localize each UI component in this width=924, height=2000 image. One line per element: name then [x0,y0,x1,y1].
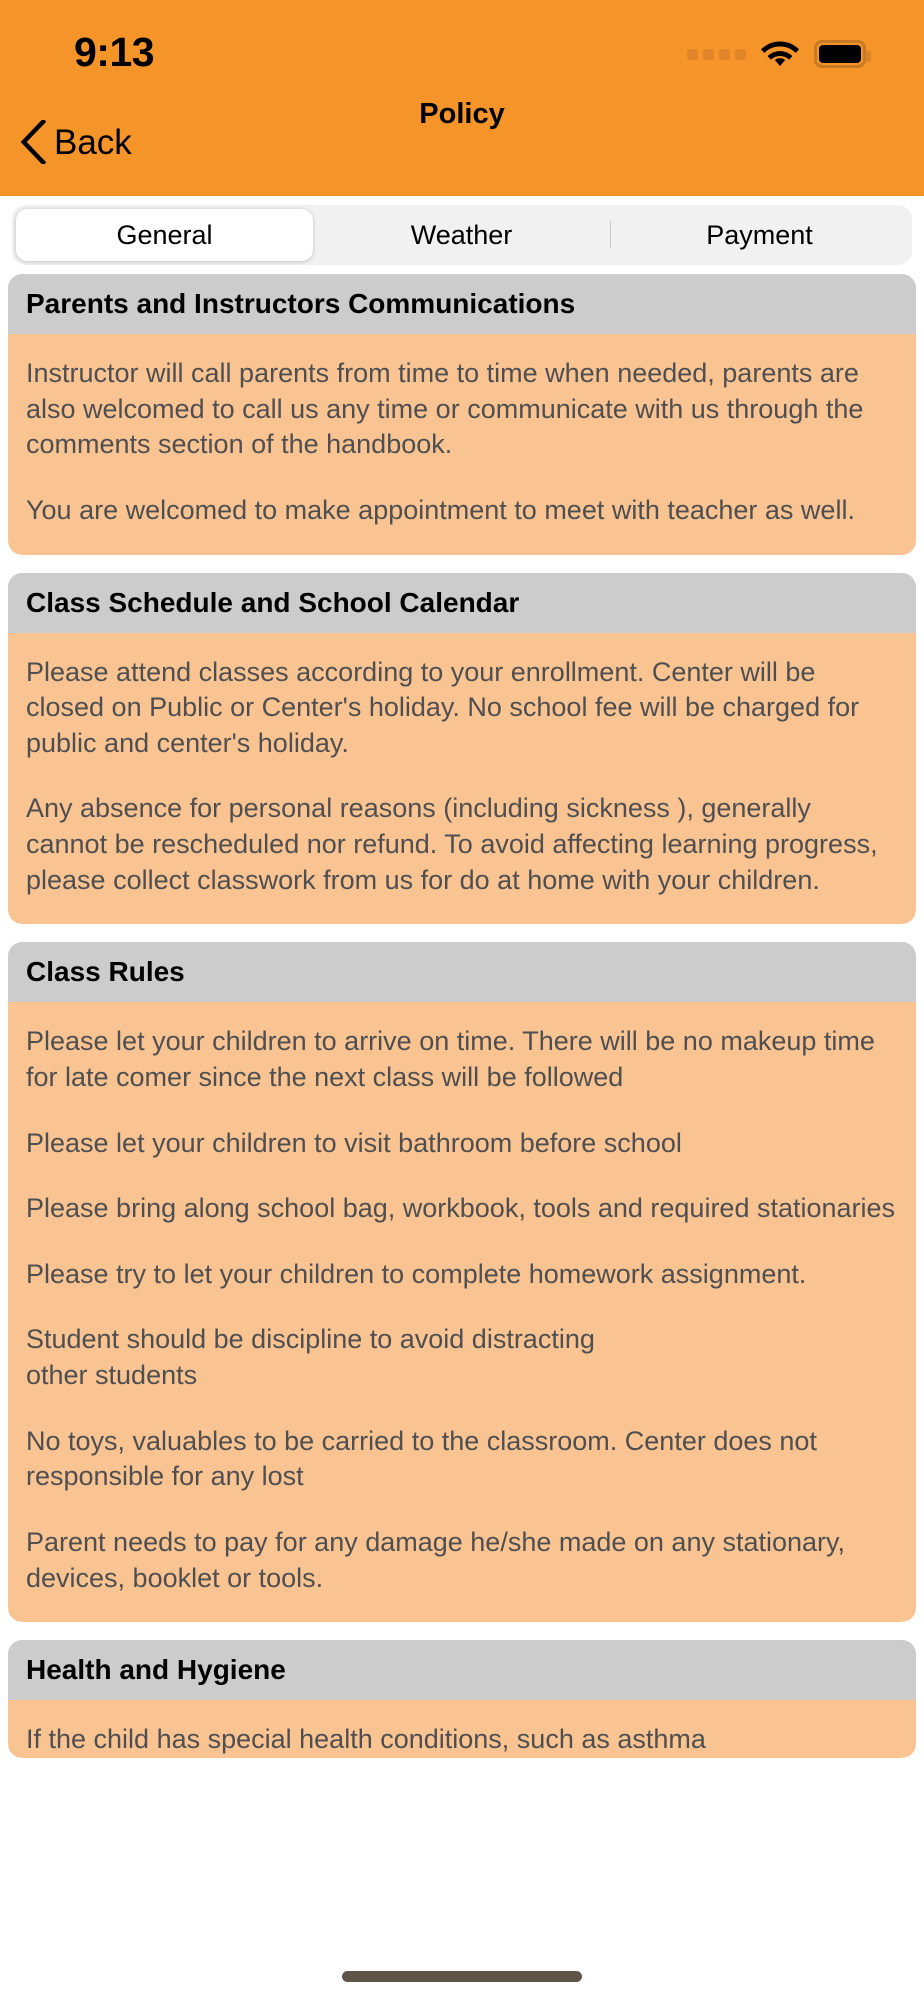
section-body: Instructor will call parents from time t… [8,334,916,555]
status-indicators [687,39,866,69]
app-header: 9:13 Policy Back [0,0,924,196]
section-paragraph: Any absence for personal reasons (includ… [26,791,898,898]
section-title: Class Schedule and School Calendar [8,573,916,633]
section-card: Health and Hygiene If the child has spec… [8,1640,916,1758]
section-paragraph: No toys, valuables to be carried to the … [26,1424,898,1495]
section-paragraph: Please attend classes according to your … [26,655,898,762]
back-button[interactable]: Back [18,120,132,164]
section-body: Please attend classes according to your … [8,633,916,925]
section-card: Parents and Instructors Communications I… [8,274,916,555]
back-label: Back [54,125,132,160]
home-indicator[interactable] [342,1971,582,1982]
section-card: Class Schedule and School Calendar Pleas… [8,573,916,925]
chevron-left-icon [18,120,48,164]
section-paragraph: Parent needs to pay for any damage he/sh… [26,1525,898,1596]
tab-payment[interactable]: Payment [611,209,908,261]
battery-full-icon [814,40,866,68]
section-title: Class Rules [8,942,916,1002]
section-paragraph: You are welcomed to make appointment to … [26,493,898,529]
status-bar: 9:13 [0,0,924,86]
status-time: 9:13 [74,29,154,76]
section-paragraph: If the child has special health conditio… [26,1722,898,1758]
signal-dots-icon [687,49,746,60]
tab-general[interactable]: General [16,209,313,261]
tab-bar-wrapper: General Weather Payment [0,196,924,274]
section-paragraph: Instructor will call parents from time t… [26,356,898,463]
section-card: Class Rules Please let your children to … [8,942,916,1622]
section-title: Parents and Instructors Communications [8,274,916,334]
policy-sections: Parents and Instructors Communications I… [0,274,924,1758]
section-paragraph: Student should be discipline to avoid di… [26,1322,898,1393]
section-body: Please let your children to arrive on ti… [8,1002,916,1622]
page-title: Policy [0,98,924,131]
section-title: Health and Hygiene [8,1640,916,1700]
wifi-icon [760,39,800,69]
policy-screen: 9:13 Policy Back [0,0,924,2000]
segmented-control[interactable]: General Weather Payment [12,205,912,265]
section-paragraph: Please let your children to arrive on ti… [26,1024,898,1095]
section-body: If the child has special health conditio… [8,1700,916,1758]
section-paragraph: Please bring along school bag, workbook,… [26,1191,898,1227]
tab-weather[interactable]: Weather [313,209,610,261]
section-paragraph: Please let your children to visit bathro… [26,1126,898,1162]
section-paragraph: Please try to let your children to compl… [26,1257,898,1293]
